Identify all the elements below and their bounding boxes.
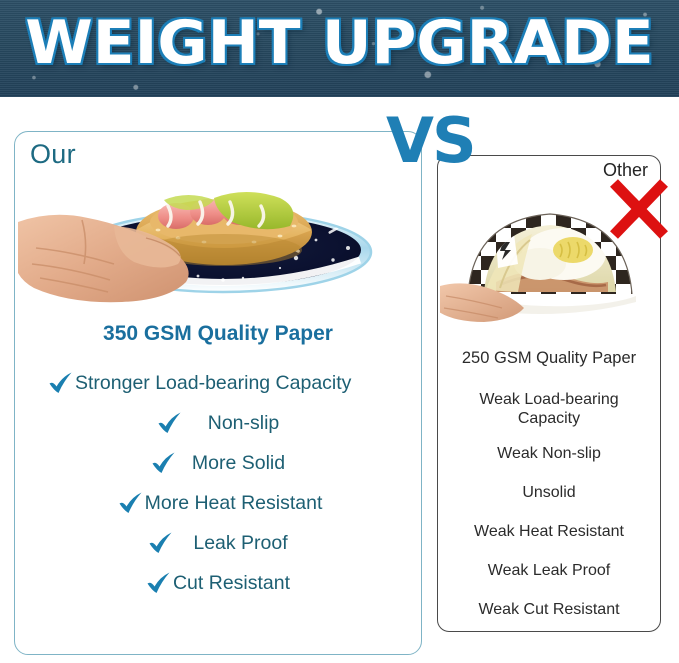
- our-feature-label: Non-slip: [208, 412, 280, 435]
- our-feature-label: More Heat Resistant: [145, 492, 323, 515]
- our-feature-item: Stronger Load-bearing Capacity: [14, 363, 422, 403]
- other-feature-item: Weak Cut Resistant: [437, 588, 661, 627]
- our-feature-list: Stronger Load-bearing Capacity Non-slip …: [14, 363, 422, 603]
- our-feature-label: More Solid: [192, 452, 285, 475]
- our-gsm-heading: 350 GSM Quality Paper: [14, 322, 422, 346]
- other-feature-item: Weak Heat Resistant: [437, 510, 661, 549]
- banner-title: WEIGHT UPGRADE: [0, 11, 679, 75]
- check-icon: [146, 571, 172, 595]
- check-icon: [148, 531, 174, 555]
- check-icon: [157, 411, 183, 435]
- header-banner: WEIGHT UPGRADE: [0, 0, 679, 97]
- other-gsm-heading: 250 GSM Quality Paper: [437, 349, 661, 368]
- our-feature-item: Non-slip: [14, 403, 422, 443]
- other-feature-item: Weak Non-slip: [437, 436, 661, 471]
- check-icon: [151, 451, 177, 475]
- check-icon: [48, 371, 74, 395]
- our-product-photo: [18, 160, 418, 310]
- our-feature-label: Leak Proof: [193, 532, 287, 555]
- red-x-icon: [608, 178, 670, 240]
- our-feature-label: Cut Resistant: [173, 572, 290, 595]
- our-feature-item: More Solid: [14, 443, 422, 483]
- our-feature-item: Cut Resistant: [14, 563, 422, 603]
- comparison-infographic: WEIGHT UPGRADE Our Other VS: [0, 0, 679, 663]
- other-feature-item: Weak Load-bearing Capacity: [437, 382, 661, 436]
- other-feature-list: Weak Load-bearing Capacity Weak Non-slip…: [437, 382, 661, 627]
- our-feature-item: More Heat Resistant: [14, 483, 422, 523]
- other-feature-item: Unsolid: [437, 471, 661, 510]
- vs-divider-label: VS: [386, 110, 475, 172]
- check-icon: [118, 491, 144, 515]
- other-feature-item: Weak Leak Proof: [437, 549, 661, 588]
- our-feature-label: Stronger Load-bearing Capacity: [75, 372, 351, 395]
- our-feature-item: Leak Proof: [14, 523, 422, 563]
